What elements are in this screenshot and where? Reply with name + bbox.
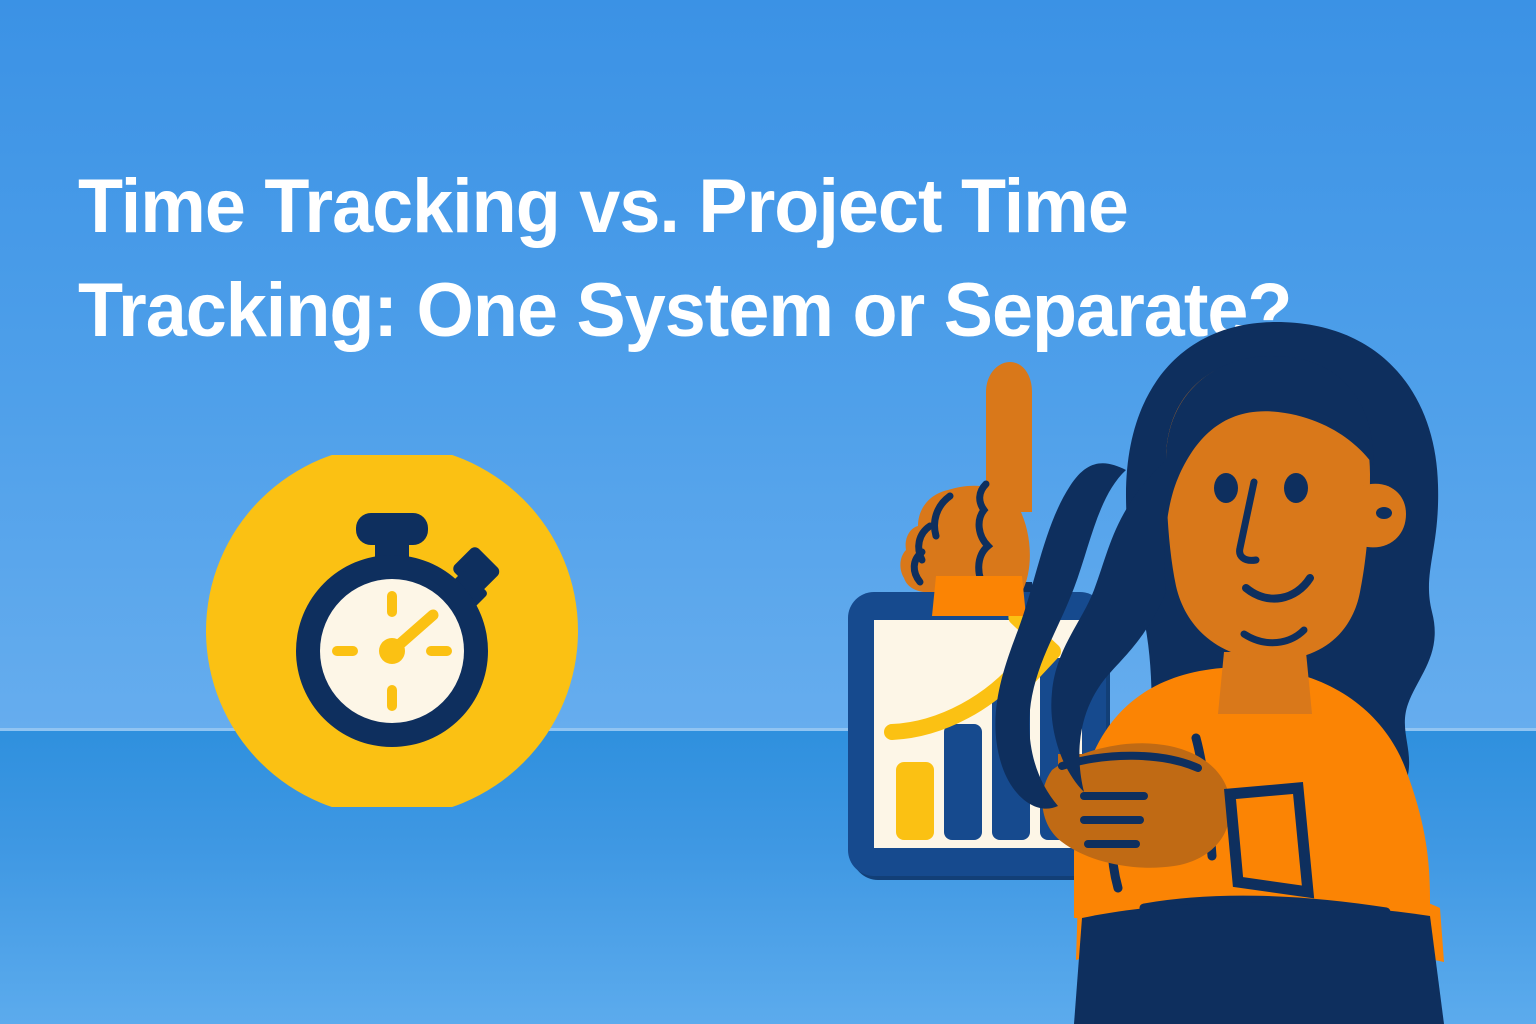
neck bbox=[1218, 652, 1312, 714]
clipboard-clip bbox=[932, 576, 1026, 616]
stopwatch-tick-bottom bbox=[387, 685, 397, 711]
chart-bar-1 bbox=[896, 762, 934, 840]
stopwatch-badge bbox=[206, 455, 578, 807]
stopwatch-tick-right bbox=[426, 646, 452, 656]
stopwatch-tick-top bbox=[387, 591, 397, 617]
illustration-woman-with-chart bbox=[826, 300, 1536, 1024]
stopwatch-pivot bbox=[379, 638, 405, 664]
skirt bbox=[1074, 903, 1444, 1024]
hero-banner: Time Tracking vs. Project Time Tracking:… bbox=[0, 0, 1536, 1024]
eye-left bbox=[1214, 473, 1238, 503]
earring bbox=[1376, 507, 1392, 519]
chart-bar-2 bbox=[944, 724, 982, 840]
stopwatch-tick-left bbox=[332, 646, 358, 656]
index-finger bbox=[986, 362, 1032, 512]
stopwatch-icon bbox=[206, 455, 578, 807]
eye-right bbox=[1284, 473, 1308, 503]
woman-presenting-illustration bbox=[826, 300, 1536, 1024]
